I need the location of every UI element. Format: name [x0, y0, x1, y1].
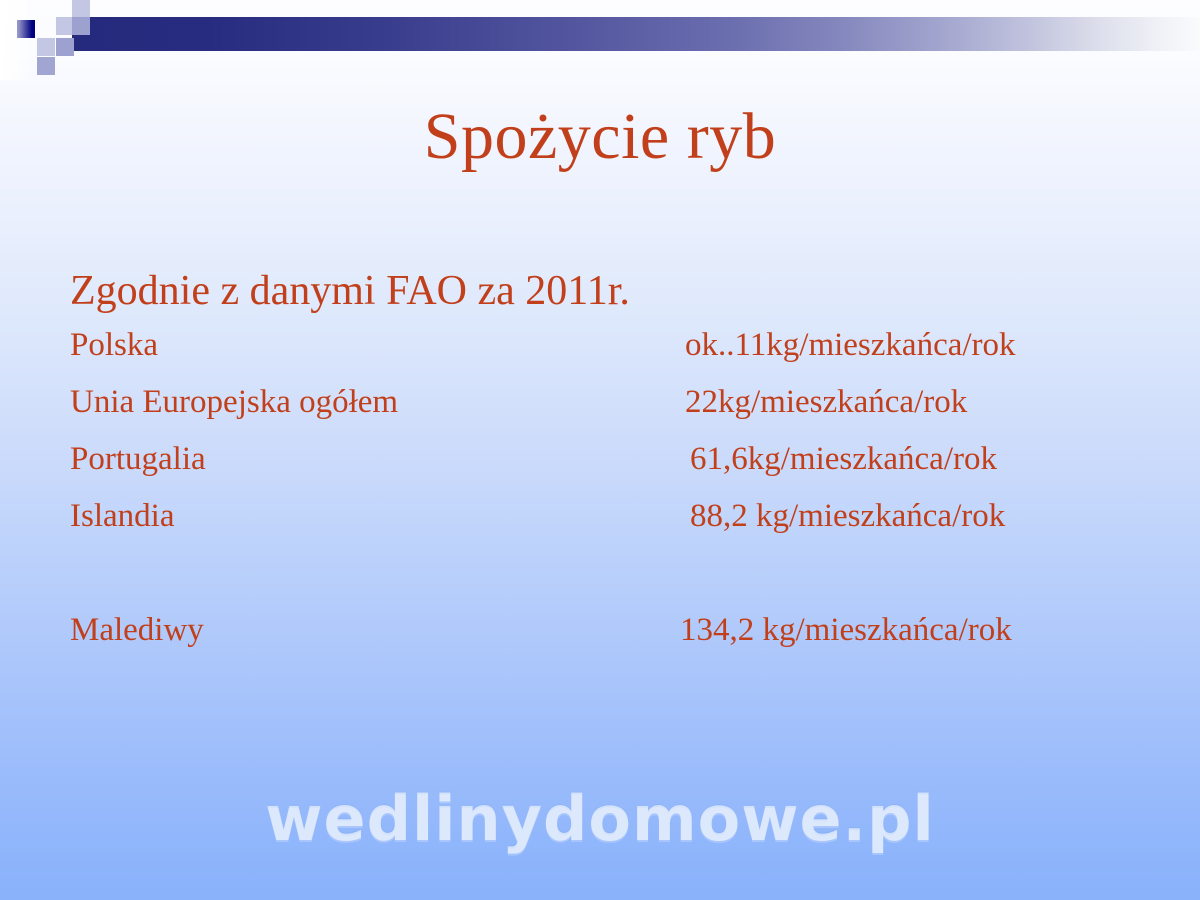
list-item: Polskaok..11kg/mieszkańca/rok	[70, 329, 1130, 386]
header-square	[72, 17, 90, 35]
consumption-value: 61,6kg/mieszkańca/rok	[690, 443, 997, 476]
header-square	[37, 38, 55, 56]
header-decoration	[0, 0, 1200, 80]
header-left-fade	[0, 0, 32, 80]
country-label: Unia Europejska ogółem	[70, 386, 398, 419]
consumption-value: 134,2 kg/mieszkańca/rok	[680, 614, 1012, 647]
consumption-value: ok..11kg/mieszkańca/rok	[685, 329, 1016, 362]
slide: Spożycie ryb Zgodnie z danymi FAO za 201…	[0, 0, 1200, 900]
subtitle-source-note: Zgodnie z danymi FAO za 2011r.	[70, 268, 1130, 315]
consumption-value: 22kg/mieszkańca/rok	[685, 386, 967, 419]
country-label: Polska	[70, 329, 158, 362]
consumption-value: 88,2 kg/mieszkańca/rok	[690, 500, 1005, 533]
consumption-list: Polskaok..11kg/mieszkańca/rokUnia Europe…	[70, 329, 1130, 671]
header-square	[56, 38, 74, 56]
list-item: Islandia88,2 kg/mieszkańca/rok	[70, 500, 1130, 557]
list-item: Malediwy134,2 kg/mieszkańca/rok	[70, 614, 1130, 671]
country-label: Portugalia	[70, 443, 206, 476]
content-block: Zgodnie z danymi FAO za 2011r. Polskaok.…	[70, 268, 1130, 671]
watermark: wedlinydomowe.pl	[0, 782, 1200, 855]
list-item: Portugalia61,6kg/mieszkańca/rok	[70, 443, 1130, 500]
list-spacer	[70, 557, 1130, 614]
header-square	[37, 57, 55, 75]
header-square	[72, 0, 90, 18]
page-title: Spożycie ryb	[0, 102, 1200, 171]
country-label: Malediwy	[70, 614, 204, 647]
list-item: Unia Europejska ogółem22kg/mieszkańca/ro…	[70, 386, 1130, 443]
header-gradient-bar	[72, 17, 1200, 51]
country-label: Islandia	[70, 500, 174, 533]
